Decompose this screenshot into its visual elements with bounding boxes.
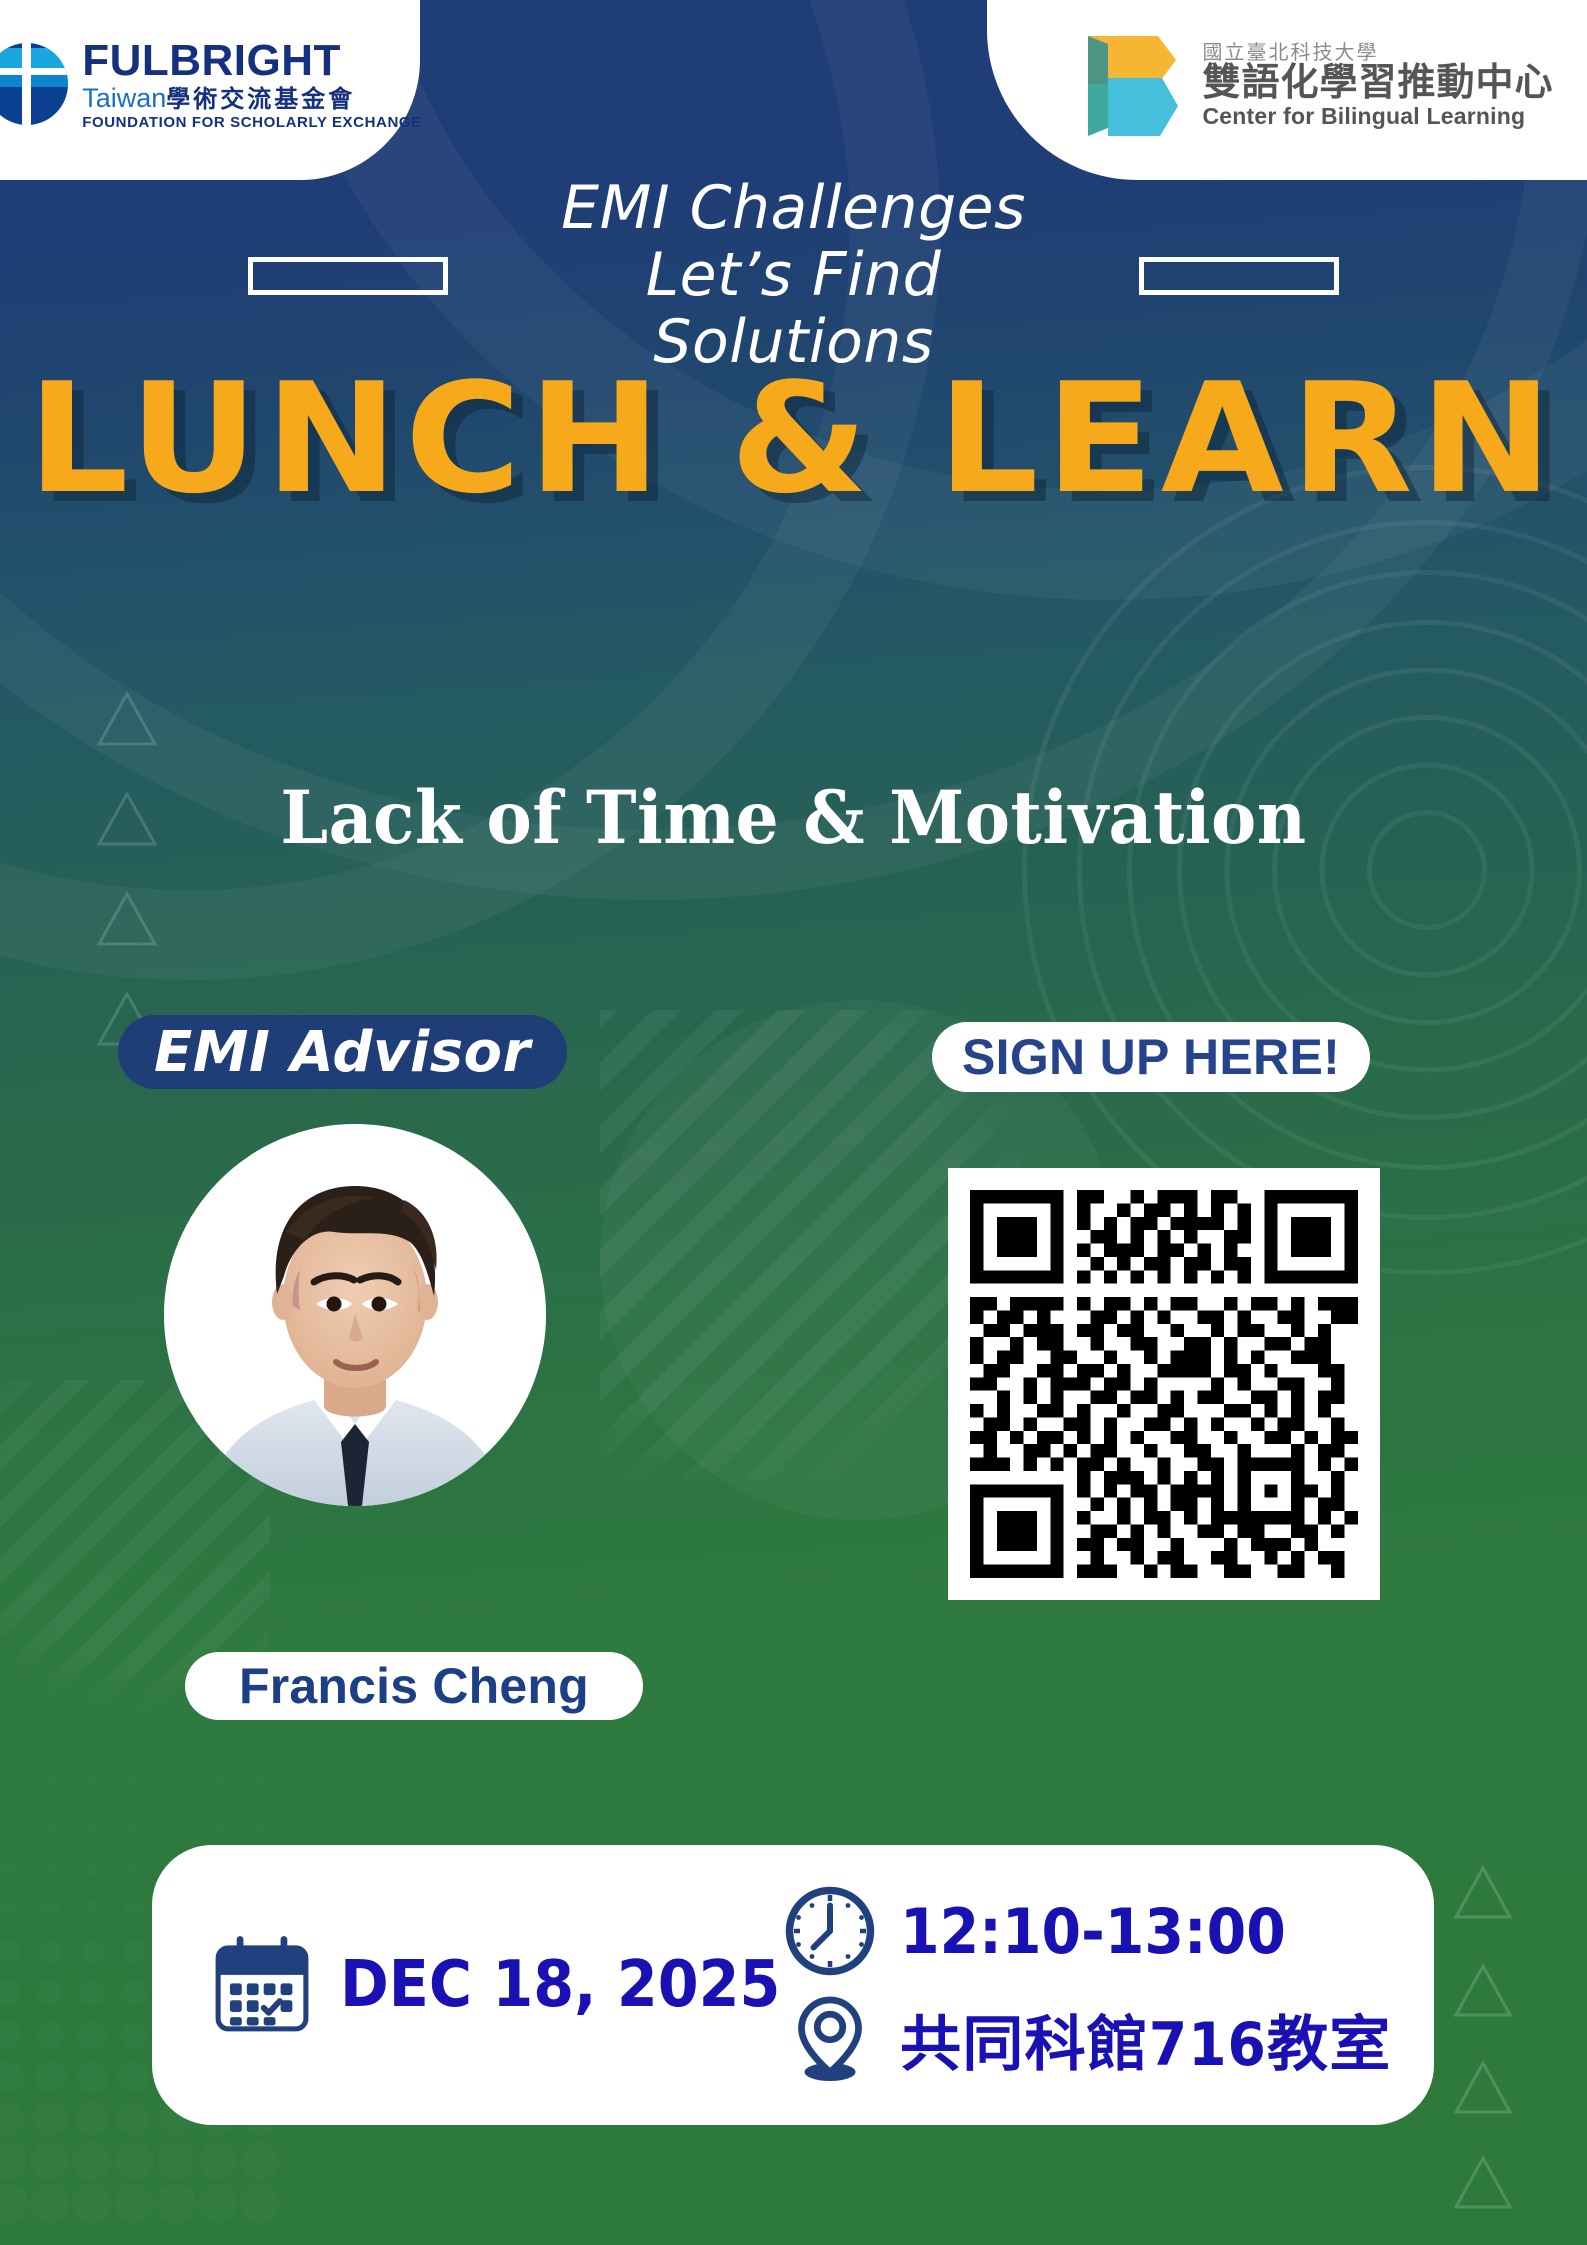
halftone-dot — [0, 2183, 28, 2223]
kicker-line-2: Let’s Find — [646, 240, 942, 310]
halftone-dot — [37, 1980, 63, 2006]
halftone-dot — [120, 2021, 149, 2050]
halftone-dot — [214, 1737, 223, 1746]
event-location: 共同科館716教室 — [900, 1996, 1391, 2083]
halftone-dot — [89, 1696, 95, 1702]
avatar — [164, 1124, 546, 1506]
map-pin-icon — [782, 1991, 878, 2087]
halftone-dot — [88, 1737, 97, 1746]
halftone-dot — [212, 1777, 224, 1789]
halftone-dot — [157, 2142, 194, 2179]
bilingual-center-name-en: Center for Bilingual Learning — [1202, 104, 1553, 128]
halftone-dot — [117, 2102, 151, 2136]
halftone-dot — [44, 1777, 56, 1789]
halftone-dot — [40, 1899, 60, 1919]
halftone-dot — [125, 1858, 142, 1875]
halftone-dot — [0, 1858, 17, 1875]
halftone-dot — [0, 1940, 20, 1963]
halftone-dot — [0, 2142, 27, 2179]
halftone-dot — [75, 2102, 109, 2136]
halftone-dot — [5, 1696, 11, 1702]
header-left-panel: FULBRIGHT Taiwan學術交流基金會 FOUNDATION FOR S… — [0, 0, 420, 180]
event-date-block: DEC 18, 2025 — [152, 1931, 772, 2039]
halftone-dot — [76, 2061, 108, 2093]
kicker-line-1: EMI Challenges — [0, 175, 1587, 242]
speaker-name-badge: Francis Cheng — [185, 1652, 643, 1720]
halftone-dot — [199, 2142, 236, 2179]
halftone-dot — [254, 1777, 266, 1789]
halftone-dot — [0, 2061, 24, 2093]
halftone-dot — [79, 1980, 105, 2006]
halftone-dot — [30, 2183, 70, 2223]
halftone-dot — [47, 1696, 53, 1702]
halftone-dot — [73, 2142, 110, 2179]
halftone-dot — [46, 1737, 55, 1746]
halftone-dot — [0, 1980, 21, 2006]
decorative-rule-left — [248, 257, 448, 295]
halftone-dot — [0, 1899, 18, 1919]
halftone-dot — [128, 1777, 140, 1789]
calendar-icon — [208, 1931, 316, 2039]
triangle-outline-icon — [95, 890, 159, 948]
halftone-dot — [31, 2142, 68, 2179]
sign-up-here-badge[interactable]: SIGN UP HERE! — [932, 1022, 1370, 1092]
halftone-dot — [173, 1696, 179, 1702]
halftone-dot — [83, 1858, 100, 1875]
triangle-outline-icon — [1452, 1963, 1514, 2019]
halftone-dot — [118, 2061, 150, 2093]
fulbright-tagline: FOUNDATION FOR SCHOLARLY EXCHANGE — [82, 115, 422, 130]
halftone-dot — [2, 1777, 14, 1789]
event-details-card: DEC 18, 2025 12:10-13:0 — [152, 1845, 1434, 2125]
triangle-outline-icon — [95, 690, 159, 748]
kicker-headline: EMI Challenges Let’s Find Solutions — [0, 175, 1587, 377]
halftone-dot — [172, 1737, 181, 1746]
event-location-row: 共同科館716教室 — [782, 1991, 1382, 2087]
halftone-dot — [170, 1777, 182, 1789]
halftone-dot — [78, 2021, 107, 2050]
event-time-location-block: 12:10-13:00 共同科館716教室 — [772, 1883, 1382, 2087]
halftone-dot — [156, 2183, 196, 2223]
halftone-dot — [241, 2142, 278, 2179]
event-time-row: 12:10-13:00 — [782, 1883, 1382, 1979]
halftone-dot — [198, 2183, 238, 2223]
fulbright-taiwan-label-zh: 學術交流基金會 — [166, 86, 355, 113]
halftone-dot — [240, 2183, 280, 2223]
halftone-dot — [121, 1980, 147, 2006]
decorative-rule-right — [1139, 257, 1339, 295]
ntut-university-name: 國立臺北科技大學 — [1202, 43, 1553, 64]
fulbright-globe-icon — [0, 43, 68, 125]
halftone-dot — [124, 1899, 144, 1919]
triangle-outline-icon — [1452, 1865, 1514, 1921]
halftone-dot — [131, 1696, 137, 1702]
halftone-dot — [115, 2142, 152, 2179]
bilingual-center-mark-icon — [1080, 30, 1184, 142]
event-time: 12:10-13:00 — [900, 1895, 1286, 1968]
halftone-dot — [85, 1818, 100, 1833]
event-date: DEC 18, 2025 — [340, 1948, 780, 2022]
portrait-photo — [164, 1124, 546, 1506]
halftone-dot — [4, 1737, 13, 1746]
halftone-dot — [39, 1940, 62, 1963]
center-for-bilingual-learning-logo: 國立臺北科技大學 雙語化學習推動中心 Center for Bilingual … — [1080, 30, 1553, 142]
qr-code[interactable] — [948, 1168, 1380, 1600]
halftone-dot — [256, 1737, 265, 1746]
header-right-panel: 國立臺北科技大學 雙語化學習推動中心 Center for Bilingual … — [987, 0, 1587, 180]
subtitle: Lack of Time & Motivation — [56, 775, 1532, 861]
halftone-dot — [86, 1777, 98, 1789]
triangle-outline-icon — [1452, 2155, 1514, 2211]
halftone-dot — [114, 2183, 154, 2223]
fulbright-taiwan-logo: FULBRIGHT Taiwan學術交流基金會 FOUNDATION FOR S… — [0, 39, 422, 130]
halftone-dot — [72, 2183, 112, 2223]
halftone-dot — [82, 1899, 102, 1919]
halftone-dot — [253, 1818, 268, 1833]
clock-icon — [782, 1883, 878, 1979]
halftone-dot — [0, 2102, 25, 2136]
halftone-dot — [34, 2061, 66, 2093]
event-poster: FULBRIGHT Taiwan學術交流基金會 FOUNDATION FOR S… — [0, 0, 1587, 2245]
triangle-outline-icon — [1452, 2060, 1514, 2116]
halftone-dot — [43, 1818, 58, 1833]
halftone-dot — [36, 2021, 65, 2050]
fulbright-taiwan-label: Taiwan — [82, 83, 166, 113]
halftone-dot — [81, 1940, 104, 1963]
bilingual-center-name-zh: 雙語化學習推動中心 — [1202, 64, 1553, 104]
halftone-dot — [0, 2021, 22, 2050]
halftone-dot — [169, 1818, 184, 1833]
qr-code-image — [970, 1190, 1358, 1578]
halftone-dot — [130, 1737, 139, 1746]
halftone-dot — [211, 1818, 226, 1833]
page-title: LUNCH & LEARN — [0, 350, 1587, 527]
halftone-dot — [123, 1940, 146, 1963]
fulbright-wordmark: FULBRIGHT — [82, 39, 422, 83]
kicker-line-2-wrap: Let’s Find — [0, 242, 1587, 309]
halftone-dot — [127, 1818, 142, 1833]
status-badge-emi-advisor: EMI Advisor — [118, 1015, 567, 1089]
halftone-dot — [1, 1818, 16, 1833]
halftone-dot — [41, 1858, 58, 1875]
halftone-dot — [33, 2102, 67, 2136]
